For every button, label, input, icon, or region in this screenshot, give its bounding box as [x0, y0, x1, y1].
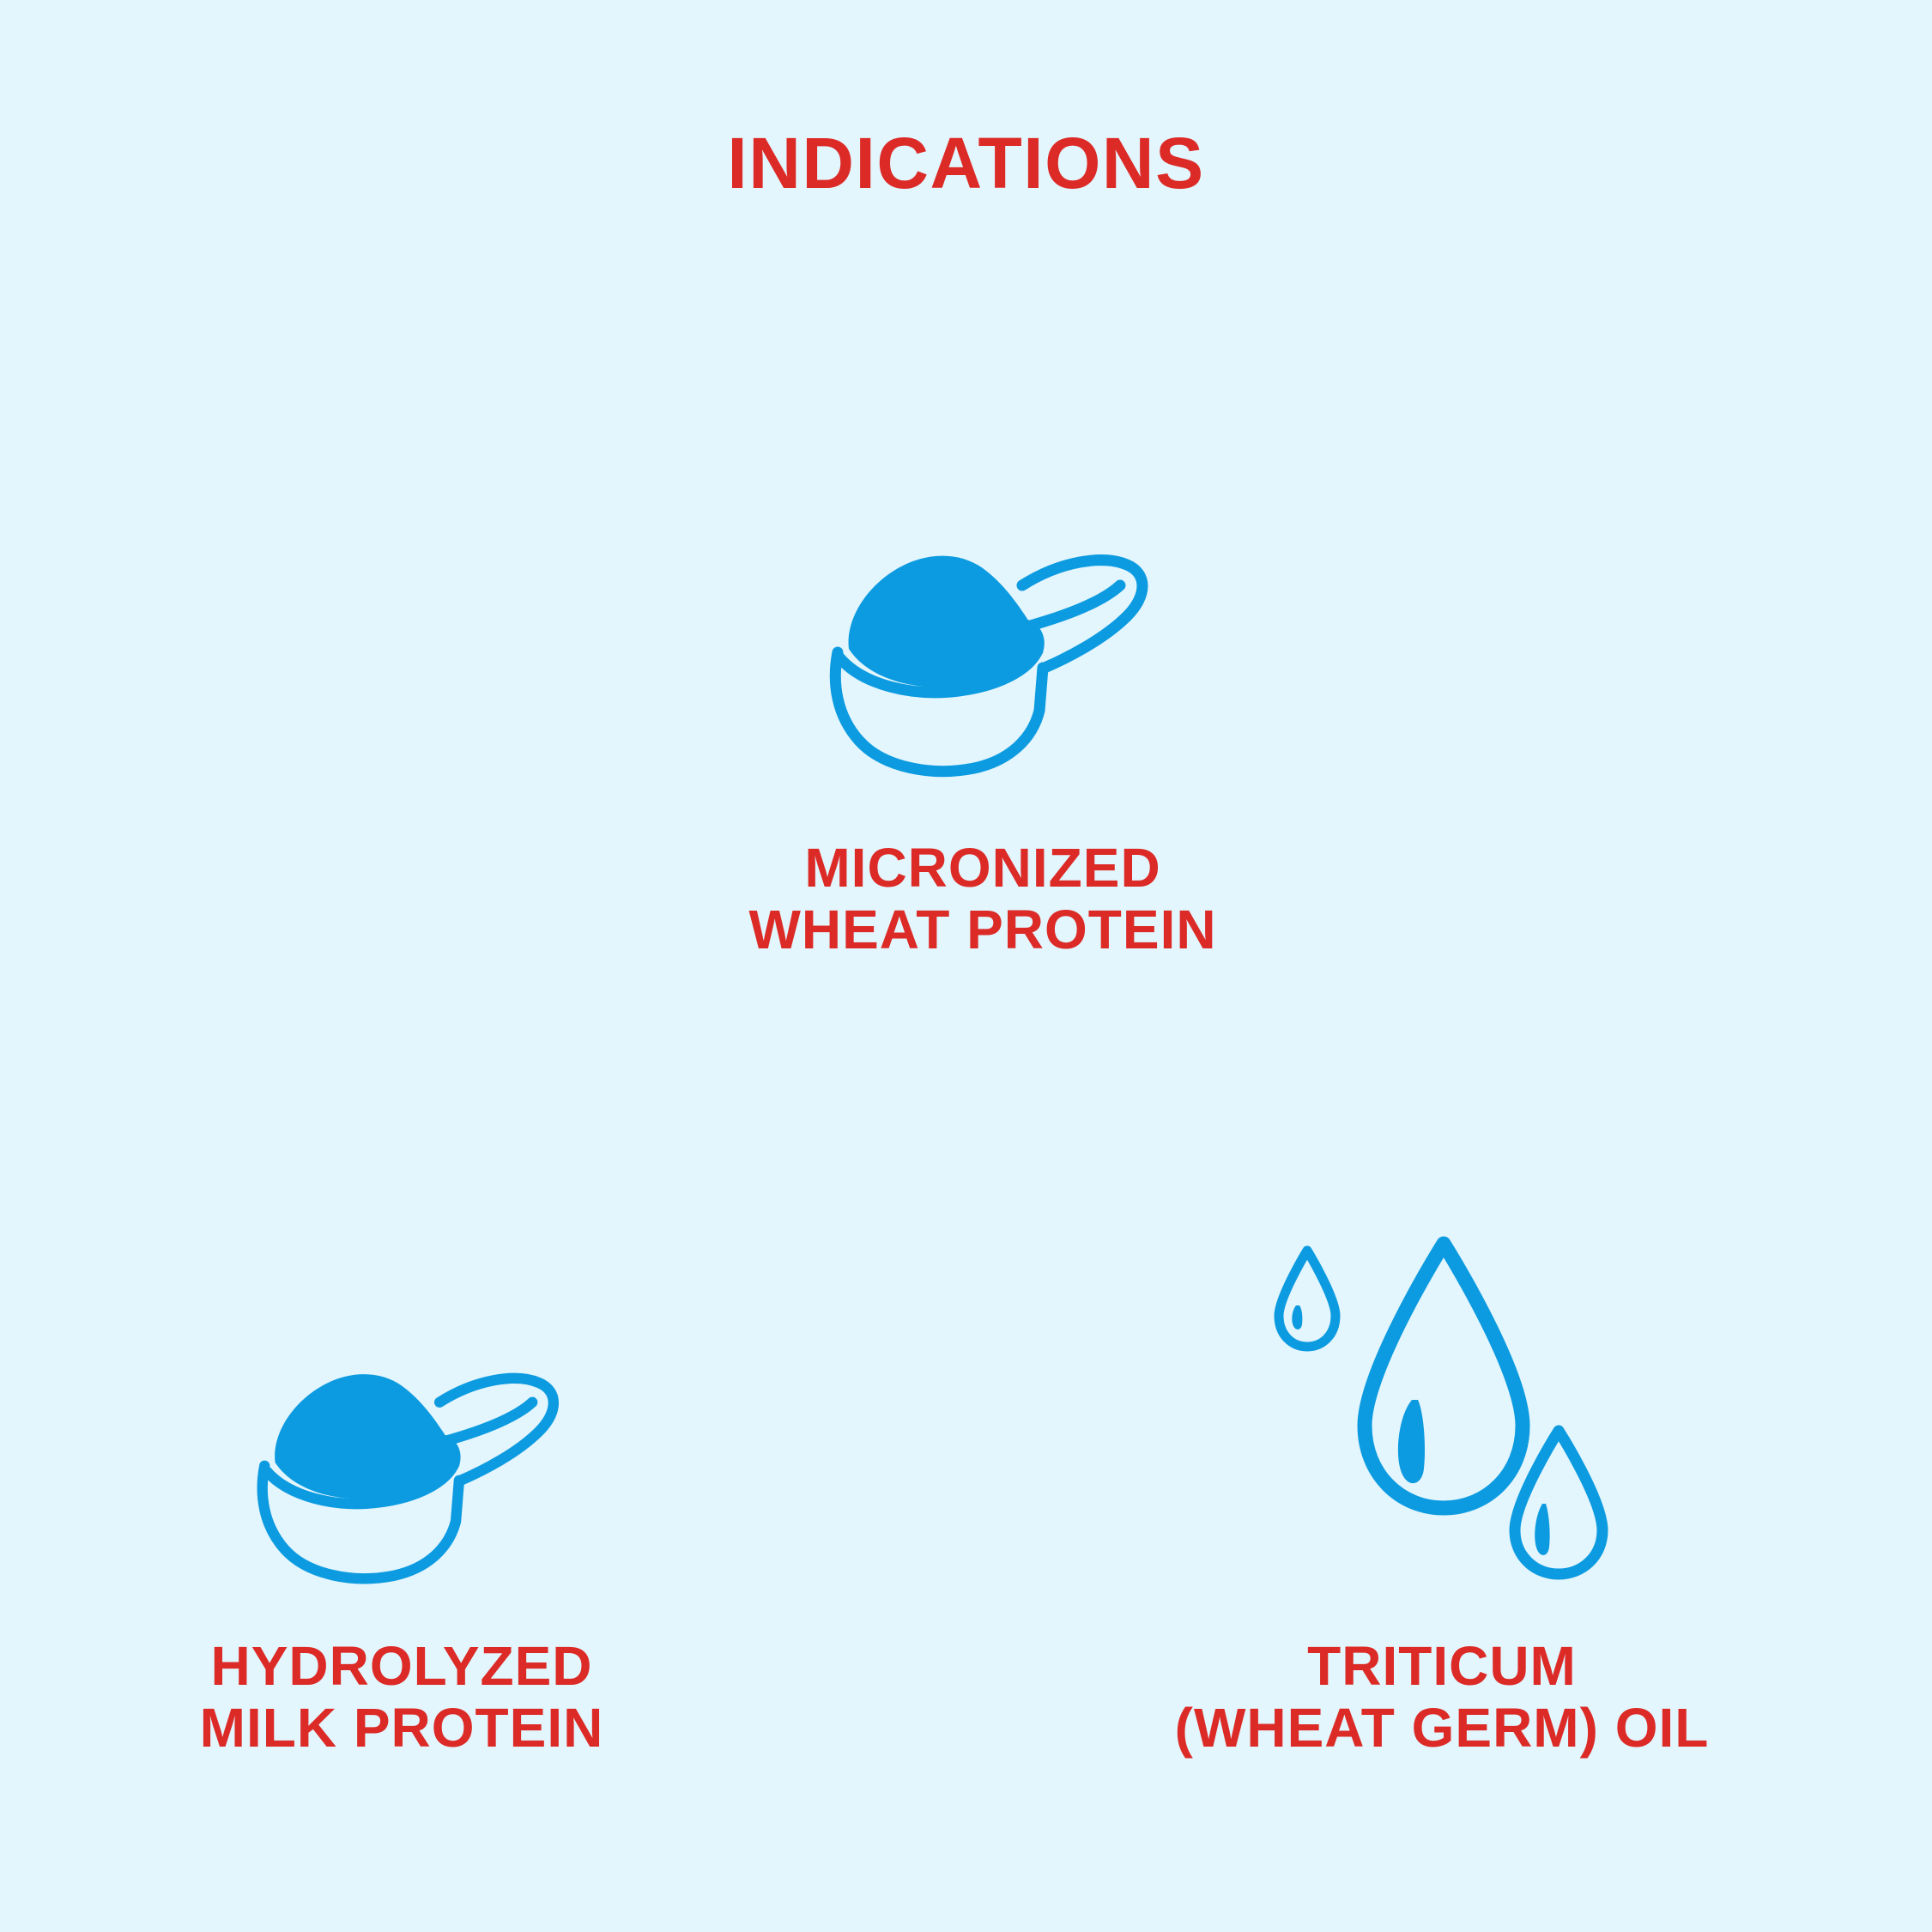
ingredient-hydrolyzed-milk-protein: HYDROLYZED MILK PROTEIN	[58, 1352, 745, 1759]
ingredient-label-line-2: MILK PROTEIN	[200, 1698, 604, 1759]
ingredient-triticum-wheat-germ-oil: TRITICUM (WHEAT GERM) OIL	[1073, 1232, 1811, 1759]
ingredient-label-line-1: MICRONIZED	[748, 838, 1216, 899]
ingredient-label-line-2: (WHEAT GERM) OIL	[1175, 1698, 1710, 1759]
ingredient-label-line-2: WHEAT PROTEIN	[748, 899, 1216, 961]
droplet-large	[1365, 1244, 1523, 1508]
ingredient-label-line-1: TRITICUM	[1175, 1636, 1710, 1698]
scoop-icon	[811, 532, 1154, 781]
ingredient-label: MICRONIZED WHEAT PROTEIN	[748, 838, 1216, 960]
scoop-icon	[233, 1352, 572, 1588]
ingredient-label-line-1: HYDROLYZED	[200, 1636, 604, 1698]
ingredient-micronized-wheat-protein: MICRONIZED WHEAT PROTEIN	[682, 532, 1283, 960]
page-title: INDICATIONS	[0, 127, 1932, 199]
droplet-small	[1279, 1251, 1335, 1347]
droplet-medium	[1515, 1431, 1602, 1574]
ingredient-label: TRITICUM (WHEAT GERM) OIL	[1175, 1636, 1710, 1759]
water-droplets-icon	[1253, 1232, 1631, 1588]
ingredient-label: HYDROLYZED MILK PROTEIN	[200, 1636, 604, 1759]
